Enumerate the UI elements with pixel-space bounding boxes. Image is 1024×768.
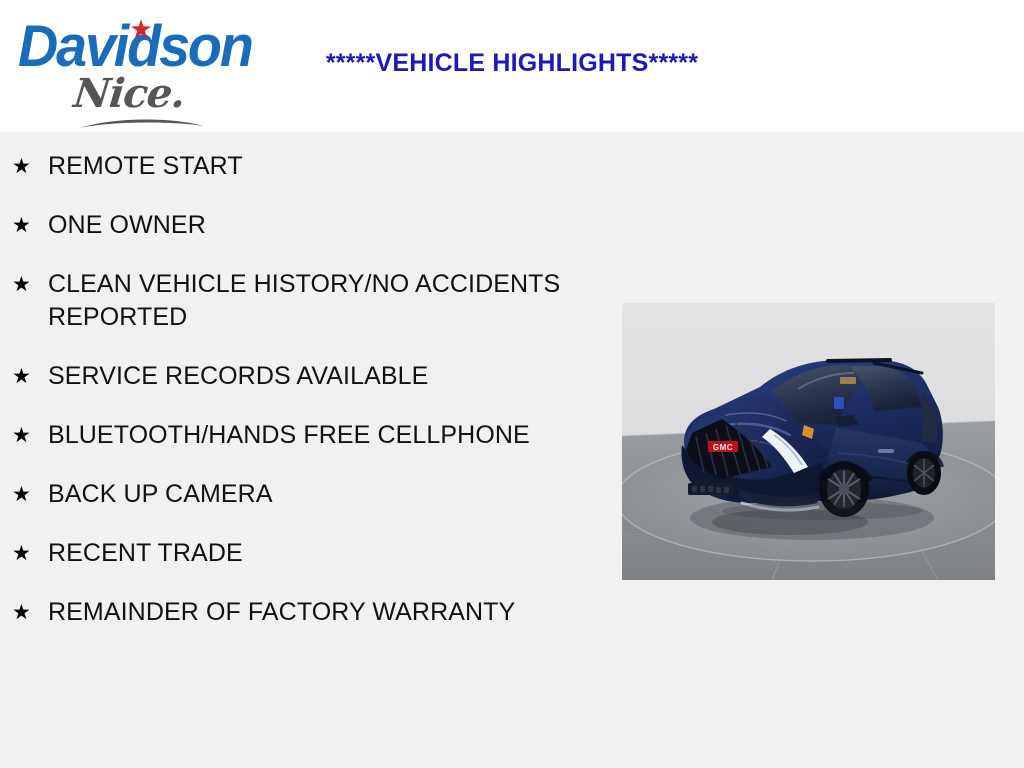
highlight-item-label: BACK UP CAMERA [48,480,273,508]
page-title: *****VEHICLE HIGHLIGHTS***** [0,48,1024,78]
highlight-item-label: BLUETOOTH/HANDS FREE CELLPHONE [48,421,530,449]
highlight-item: ★RECENT TRADE [0,537,600,570]
star-bullet-icon: ★ [12,150,36,183]
highlight-item-label: ONE OWNER [48,211,206,239]
highlight-item-label: RECENT TRADE [48,539,243,567]
logo-swoosh-icon [78,116,206,130]
star-bullet-icon: ★ [12,537,36,570]
logo-star-icon: ★ [128,16,154,42]
highlight-item: ★CLEAN VEHICLE HISTORY/NO ACCIDENTS REPO… [0,268,600,334]
header-band: Davidson ★ Nice. *****VEHICLE HIGHLIGHTS… [0,0,1024,132]
star-bullet-icon: ★ [12,419,36,452]
highlight-item: ★BACK UP CAMERA [0,478,600,511]
star-bullet-icon: ★ [12,596,36,629]
highlight-item-label: CLEAN VEHICLE HISTORY/NO ACCIDENTS REPOR… [48,270,560,331]
highlight-item-label: REMOTE START [48,152,243,180]
svg-text:GMC: GMC [713,443,733,452]
highlight-item: ★ONE OWNER [0,209,600,242]
vehicle-photo[interactable]: GMC [622,303,995,580]
highlight-item-label: SERVICE RECORDS AVAILABLE [48,362,428,390]
highlight-item: ★REMOTE START [0,150,600,183]
dealer-logo-sub-text: Nice. [72,74,187,114]
star-bullet-icon: ★ [12,268,36,301]
highlight-item-label: REMAINDER OF FACTORY WARRANTY [48,598,515,626]
vehicle-highlights-list: ★REMOTE START★ONE OWNER★CLEAN VEHICLE HI… [0,132,600,655]
highlight-item: ★REMAINDER OF FACTORY WARRANTY [0,596,600,629]
star-bullet-icon: ★ [12,478,36,511]
highlight-item: ★SERVICE RECORDS AVAILABLE [0,360,600,393]
vehicle-highlights-page: Davidson ★ Nice. *****VEHICLE HIGHLIGHTS… [0,0,1024,768]
highlight-item: ★BLUETOOTH/HANDS FREE CELLPHONE [0,419,600,452]
star-bullet-icon: ★ [12,209,36,242]
star-bullet-icon: ★ [12,360,36,393]
